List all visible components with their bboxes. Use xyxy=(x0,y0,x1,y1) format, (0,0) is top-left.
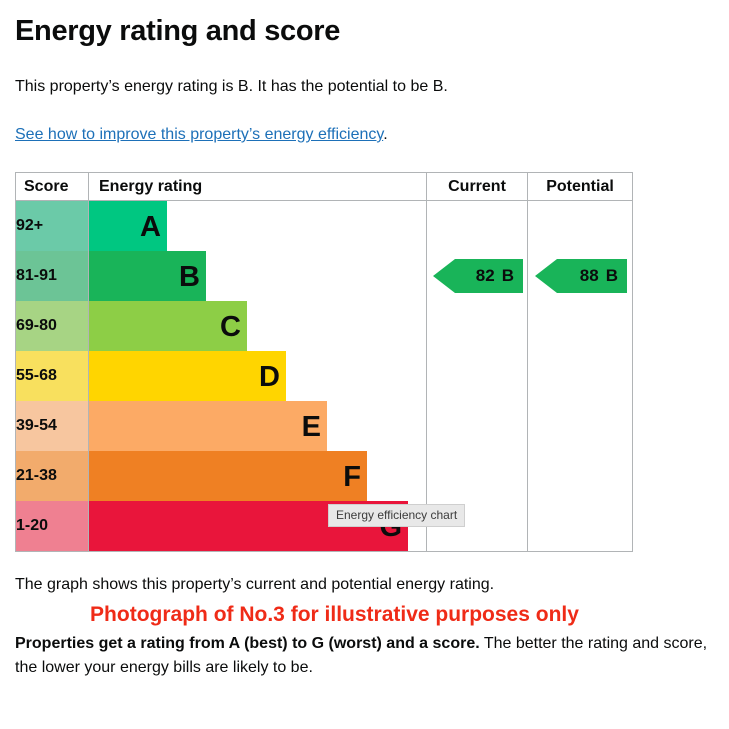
chart-tooltip: Energy efficiency chart xyxy=(328,504,465,527)
rating-letter: B xyxy=(179,263,200,292)
potential-rating-cell xyxy=(528,351,633,401)
current-rating-cell: 82B xyxy=(427,251,528,301)
column-header-current: Current xyxy=(427,173,528,201)
score-range-cell: 1-20 xyxy=(16,501,89,552)
rating-explanation: Properties get a rating from A (best) to… xyxy=(15,632,714,680)
current-rating-arrow: 82B xyxy=(433,259,523,293)
epc-band-row: 55-68D xyxy=(16,351,633,401)
score-range-cell: 92+ xyxy=(16,201,89,252)
potential-rating-cell xyxy=(528,401,633,451)
column-header-potential: Potential xyxy=(528,173,633,201)
score-range-cell: 69-80 xyxy=(16,301,89,351)
link-trailing-period: . xyxy=(383,126,387,143)
epc-page: Energy rating and score This property’s … xyxy=(0,14,729,680)
rating-letter: A xyxy=(140,213,161,242)
energy-efficiency-chart: Score Energy rating Current Potential 92… xyxy=(15,172,714,552)
current-rating-cell xyxy=(427,201,528,252)
potential-rating-cell xyxy=(528,501,633,552)
current-rating-cell xyxy=(427,451,528,501)
epc-band-row: 81-91B82B88B xyxy=(16,251,633,301)
current-rating-cell xyxy=(427,401,528,451)
potential-rating-arrow: 88B xyxy=(535,259,627,293)
rating-bar: F xyxy=(89,451,367,501)
column-header-score: Score xyxy=(16,173,89,201)
rating-letter: C xyxy=(220,313,241,342)
column-header-rating: Energy rating xyxy=(89,173,427,201)
rating-bar: A xyxy=(89,201,167,251)
epc-table: Score Energy rating Current Potential 92… xyxy=(15,172,633,552)
rating-letter: F xyxy=(343,463,361,492)
arrow-band-letter: B xyxy=(606,266,618,286)
score-range-cell: 39-54 xyxy=(16,401,89,451)
rating-bar-cell: F xyxy=(89,451,427,501)
arrow-band-letter: B xyxy=(502,266,514,286)
potential-rating-cell xyxy=(528,451,633,501)
improve-link-row: See how to improve this property’s energ… xyxy=(15,124,714,146)
rating-bar-cell: E xyxy=(89,401,427,451)
rating-bar-cell: B xyxy=(89,251,427,301)
rating-explanation-bold: Properties get a rating from A (best) to… xyxy=(15,635,480,652)
rating-letter: E xyxy=(302,413,321,442)
epc-band-row: 39-54E xyxy=(16,401,633,451)
epc-band-row: 92+A xyxy=(16,201,633,252)
graph-caption: The graph shows this property’s current … xyxy=(15,574,714,596)
score-range-cell: 81-91 xyxy=(16,251,89,301)
rating-bar: D xyxy=(89,351,286,401)
potential-rating-cell: 88B xyxy=(528,251,633,301)
current-rating-cell xyxy=(427,301,528,351)
score-range-cell: 55-68 xyxy=(16,351,89,401)
rating-summary-text: This property’s energy rating is B. It h… xyxy=(15,76,714,98)
epc-band-row: 1-20G xyxy=(16,501,633,552)
rating-bar: C xyxy=(89,301,247,351)
rating-bar: E xyxy=(89,401,327,451)
arrow-score-value: 82 xyxy=(476,266,495,286)
header-row: Score Energy rating Current Potential xyxy=(16,173,633,201)
epc-band-row: 21-38F xyxy=(16,451,633,501)
arrow-score-value: 88 xyxy=(580,266,599,286)
potential-rating-cell xyxy=(528,301,633,351)
current-rating-cell xyxy=(427,351,528,401)
score-range-cell: 21-38 xyxy=(16,451,89,501)
rating-bar-cell: D xyxy=(89,351,427,401)
rating-letter: D xyxy=(259,363,280,392)
improve-efficiency-link[interactable]: See how to improve this property’s energ… xyxy=(15,126,383,143)
epc-table-header: Score Energy rating Current Potential xyxy=(16,173,633,201)
rating-bar-cell: A xyxy=(89,201,427,252)
page-title: Energy rating and score xyxy=(15,14,714,48)
rating-bar-cell: C xyxy=(89,301,427,351)
epc-table-body: 92+A81-91B82B88B69-80C55-68D39-54E21-38F… xyxy=(16,201,633,552)
epc-band-row: 69-80C xyxy=(16,301,633,351)
illustrative-photo-note: Photograph of No.3 for illustrative purp… xyxy=(15,602,714,628)
rating-bar: B xyxy=(89,251,206,301)
potential-rating-cell xyxy=(528,201,633,252)
